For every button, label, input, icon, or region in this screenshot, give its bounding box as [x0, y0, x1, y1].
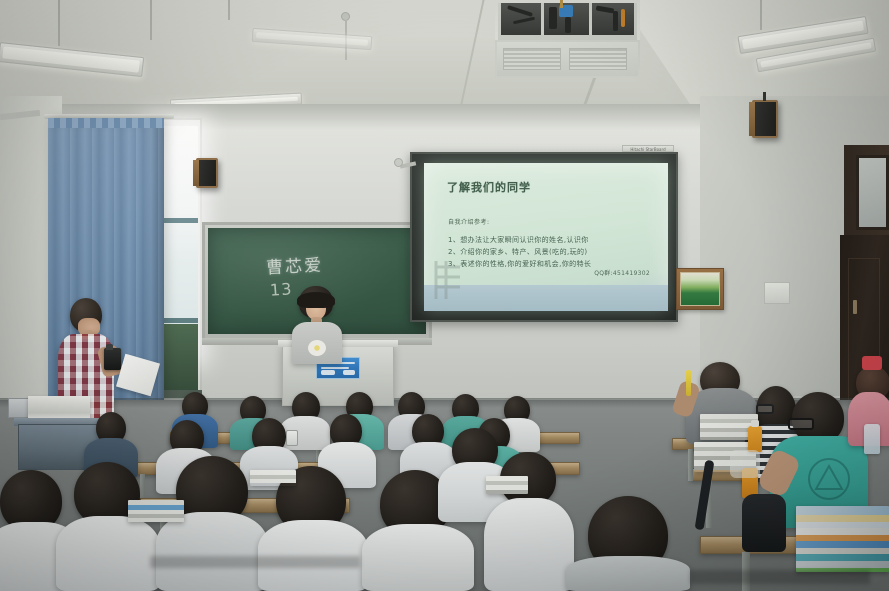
speaker-antenna [763, 92, 766, 101]
slide-bullet-1: 1、想办法让大家瞬间认识你的姓名,认识你 [448, 235, 589, 245]
slide-title: 了解我们的同学 [447, 179, 531, 195]
lamp-rod [150, 0, 152, 40]
door-handle[interactable] [853, 300, 857, 314]
presenter-flower-print [308, 340, 326, 356]
camera [104, 348, 121, 370]
water-bottle [864, 424, 880, 454]
shirt-logo-icon [806, 456, 852, 502]
slide-subtitle: 自我介绍参考: [448, 217, 490, 226]
projection-screen[interactable]: 了解我们的同学 自我介绍参考: 1、想办法让大家瞬间认识你的姓名,认识你 2、介… [424, 163, 668, 311]
pencil-icon [686, 370, 691, 396]
wall-speaker-right [752, 100, 778, 138]
ac-wire [560, 0, 563, 8]
classroom-photo: 曹芯爱 13 Hitachi StarBoard 了解我们的同学 自我介绍参考:… [0, 0, 889, 591]
floor-shadow [690, 570, 870, 584]
screen-brand-label: Hitachi StarBoard [622, 145, 674, 152]
chalk-written-number: 13 [269, 279, 293, 300]
wall-notice-board [676, 268, 724, 310]
book-stack-mid-left [250, 470, 296, 486]
student-body-foreground [566, 556, 690, 591]
book-stack-mid [486, 476, 528, 494]
wall-switch-plate[interactable] [764, 282, 790, 304]
ac-unit-interior [501, 3, 634, 35]
lamp-rod [760, 0, 762, 30]
hair-accessory [862, 356, 882, 370]
bottle-cap [751, 420, 759, 427]
slide-qq-group: QQ群:451419302 [594, 268, 650, 277]
desk-leg [688, 449, 693, 481]
floor-shadow [150, 556, 360, 568]
book-stack-near-left [128, 500, 184, 522]
desk-paper-stack [28, 396, 90, 420]
student-body-foreground [362, 524, 474, 591]
curtain-top-fold [48, 118, 164, 128]
student-body-foreground [484, 498, 574, 591]
slide-bullet-2: 2、介绍你的家乡、特产、风景(吃的,玩的) [448, 247, 588, 257]
glasses-icon [756, 404, 774, 414]
wall-speaker-left [196, 158, 218, 188]
projector-mount [394, 158, 403, 167]
plastic-bag [730, 450, 760, 478]
door-transom-glass [856, 155, 889, 230]
lamp-rod [228, 0, 230, 20]
chalk-written-name: 曹芯爱 [265, 251, 323, 279]
slide-watermark-icon [430, 257, 472, 301]
drink-bottle-1 [748, 426, 762, 452]
camera-lens-icon [106, 344, 113, 350]
lamp-rod [58, 0, 60, 46]
glasses-icon [788, 418, 814, 430]
phone-icon[interactable] [286, 430, 298, 446]
backpack [742, 494, 786, 552]
presenter-bangs [297, 292, 335, 308]
notice-board-inner [680, 272, 720, 306]
book-stack-foreground [796, 506, 889, 572]
student-body-foreground [156, 512, 268, 591]
student-body-foreground [56, 516, 160, 591]
ac-unit-panel [495, 40, 640, 78]
